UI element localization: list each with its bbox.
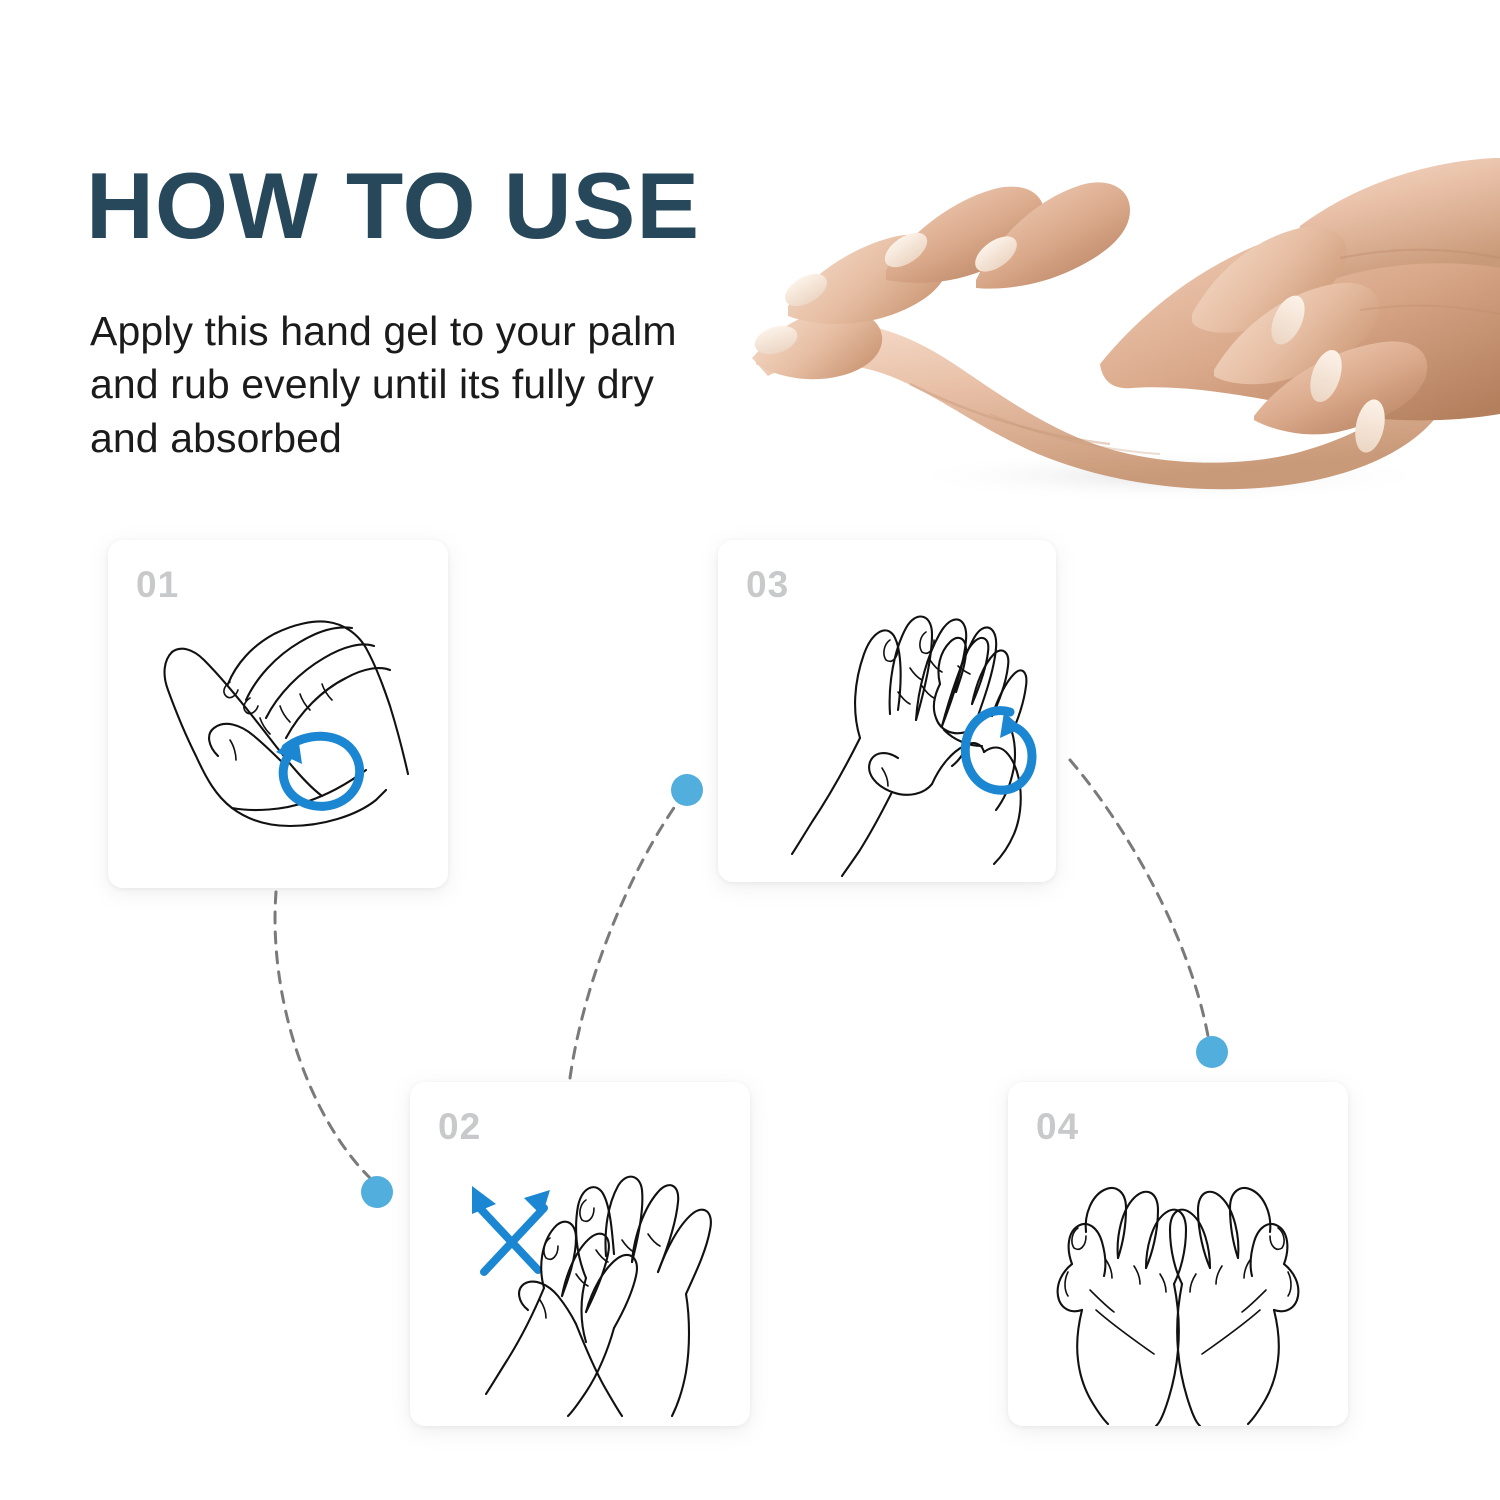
palm-rub-circular-icon [108,540,448,888]
connector-path-3 [1070,760,1208,1036]
page-title: HOW TO USE [86,159,700,253]
page-subtitle: Apply this hand gel to your palm and rub… [90,305,710,465]
connector-dot-2 [671,774,703,806]
right-open-hand [1170,1188,1298,1426]
interlaced-fingers-icon [410,1082,750,1426]
connector-dot-1 [361,1176,393,1208]
connector-path-1 [275,892,372,1180]
step-card-01[interactable]: 01 [108,540,448,888]
circular-arrow-counterclockwise-icon [276,736,360,806]
hero-hands-photo [740,58,1500,503]
connector-path-2 [570,802,678,1078]
left-open-hand [1058,1188,1186,1426]
cross-double-arrow-icon [472,1186,550,1272]
how-to-use-infographic: HOW TO USE Apply this hand gel to your p… [0,0,1500,1500]
circular-arrow-clockwise-icon [965,711,1032,791]
open-palms-dry-icon [1008,1082,1348,1426]
connector-dot-3 [1196,1036,1228,1068]
step-card-02[interactable]: 02 [410,1082,750,1426]
step-card-03[interactable]: 03 [718,540,1056,882]
step-card-04[interactable]: 04 [1008,1082,1348,1426]
hands-photo-svg [740,58,1500,503]
thumb-rotational-rub-icon [718,540,1056,882]
back-hand [1100,158,1500,455]
